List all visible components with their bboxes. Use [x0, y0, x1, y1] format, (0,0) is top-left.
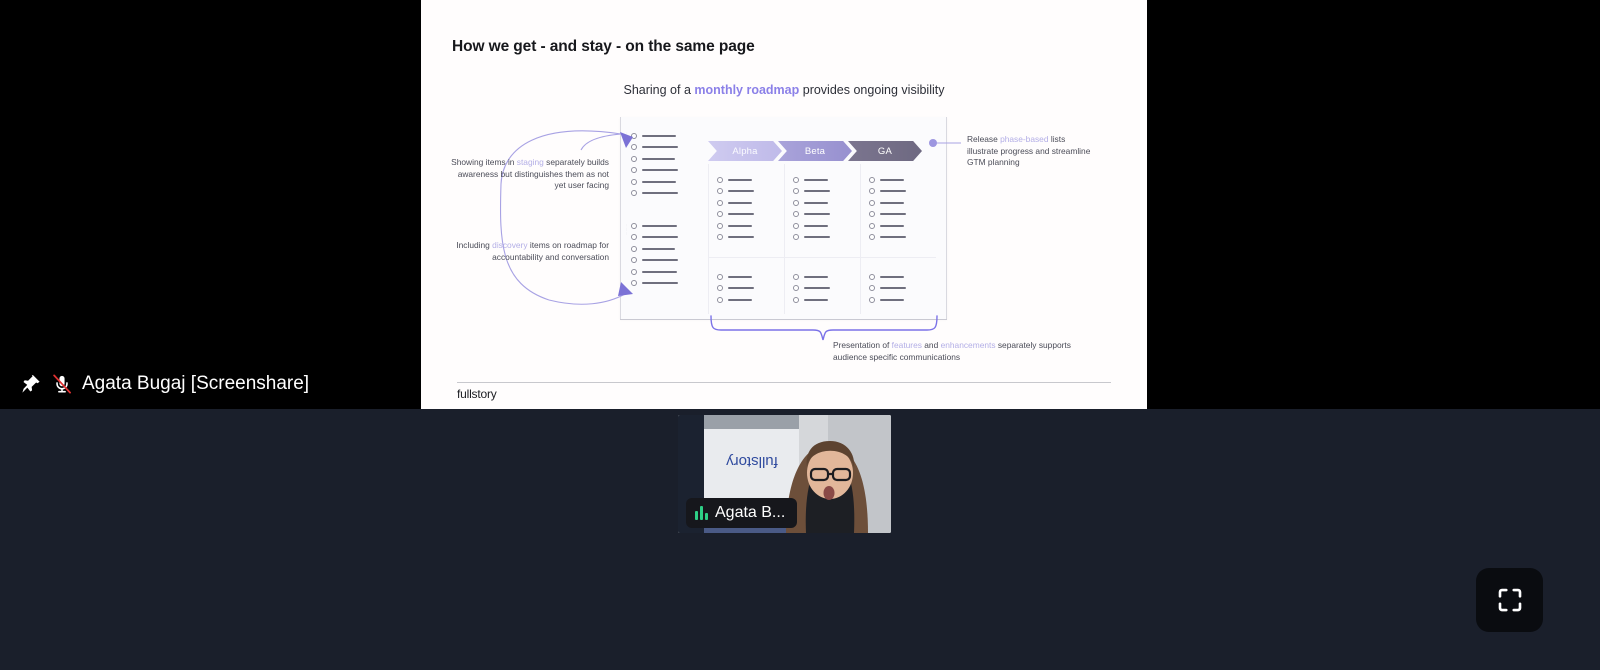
list-bullet-icon [631, 246, 637, 252]
slide-brand-logo: fullstory [457, 387, 497, 401]
list-bullet-icon [793, 274, 799, 280]
list-bar [728, 276, 752, 278]
slide-subtitle: Sharing of a monthly roadmap provides on… [421, 83, 1147, 97]
list-item [717, 174, 779, 186]
list-bar [642, 282, 678, 284]
list-bullet-icon [631, 179, 637, 185]
phase-chevron-beta[interactable]: Beta [778, 141, 852, 161]
pin-icon[interactable] [20, 373, 42, 395]
phase-chevron-ga[interactable]: GA [848, 141, 922, 161]
backlog-column [631, 130, 693, 302]
list-item [717, 186, 779, 198]
screenshare-label: Agata Bugaj [Screenshare] [20, 373, 309, 395]
list-bar [642, 192, 678, 194]
list-bullet-icon [631, 156, 637, 162]
list-bullet-icon [793, 223, 799, 229]
list-bullet-icon [869, 188, 875, 194]
list-item [869, 232, 931, 244]
list-bullet-icon [631, 280, 637, 286]
list-bar [642, 169, 678, 171]
phase-chevron-alpha[interactable]: Alpha [708, 141, 782, 161]
backlog-group-2 [631, 220, 693, 289]
list-item [717, 294, 779, 306]
list-bullet-icon [717, 223, 723, 229]
roadmap-diagram: ········· ········· [421, 104, 1147, 379]
list-bullet-icon [793, 211, 799, 217]
list-item [793, 186, 855, 198]
list-bullet-icon [717, 211, 723, 217]
list-item [793, 294, 855, 306]
list-item [793, 232, 855, 244]
list-bullet-icon [869, 274, 875, 280]
list-bullet-icon [631, 257, 637, 263]
meeting-screen: How we get - and stay - on the same page… [0, 0, 1600, 670]
phase-column-ga [869, 174, 931, 319]
list-bar [880, 213, 906, 215]
list-bar [642, 181, 676, 183]
list-bar [880, 287, 906, 289]
annotation-bottom-highlight-2: enhancements [941, 340, 996, 350]
list-item [717, 197, 779, 209]
list-bar [642, 259, 678, 261]
list-bullet-icon [631, 190, 637, 196]
list-bullet-icon [631, 167, 637, 173]
list-bullet-icon [717, 188, 723, 194]
list-item [717, 271, 779, 283]
list-bullet-icon [717, 177, 723, 183]
shared-slide[interactable]: How we get - and stay - on the same page… [421, 0, 1147, 409]
annotation-left-top: Showing items in staging separately buil… [451, 157, 609, 192]
list-item [869, 271, 931, 283]
list-bullet-icon [631, 269, 637, 275]
list-item [631, 232, 693, 244]
list-bar [642, 236, 678, 238]
list-bar [880, 179, 904, 181]
list-item [631, 278, 693, 290]
list-bullet-icon [869, 177, 875, 183]
phase-group-upper [793, 174, 855, 243]
list-bar [804, 213, 830, 215]
list-bar [728, 213, 754, 215]
annotation-right-highlight: phase-based [1000, 134, 1048, 144]
audio-level-icon [695, 506, 708, 520]
annotation-left-top-before: Showing items in [451, 157, 517, 167]
list-bar [642, 225, 677, 227]
list-bullet-icon [631, 223, 637, 229]
slide-subtitle-highlight: monthly roadmap [694, 83, 799, 97]
list-bar [642, 271, 677, 273]
list-bar [642, 248, 675, 250]
list-item [869, 209, 931, 221]
list-item [793, 197, 855, 209]
slide-subtitle-after: provides ongoing visibility [799, 83, 944, 97]
list-bar [642, 146, 678, 148]
list-bar [728, 202, 752, 204]
list-item [631, 220, 693, 232]
fullscreen-icon [1495, 585, 1525, 615]
list-bullet-icon [717, 297, 723, 303]
list-bullet-icon [793, 188, 799, 194]
list-bullet-icon [869, 223, 875, 229]
phase-group-lower [717, 271, 779, 306]
list-bullet-icon [793, 285, 799, 291]
list-item [869, 220, 931, 232]
list-item [869, 174, 931, 186]
list-bullet-icon [793, 200, 799, 206]
slide-subtitle-before: Sharing of a [624, 83, 695, 97]
list-bar [804, 299, 828, 301]
list-bullet-icon [869, 211, 875, 217]
list-item [631, 266, 693, 278]
list-bullet-icon [717, 274, 723, 280]
list-item [869, 197, 931, 209]
list-bullet-icon [793, 297, 799, 303]
list-item [717, 232, 779, 244]
list-item [631, 243, 693, 255]
screenshare-stage[interactable]: How we get - and stay - on the same page… [0, 0, 1600, 409]
fullscreen-button[interactable] [1476, 568, 1543, 632]
list-item [717, 220, 779, 232]
list-item [631, 165, 693, 177]
list-bullet-icon [717, 200, 723, 206]
list-bar [804, 236, 830, 238]
list-item [631, 255, 693, 267]
backlog-ghost-label-2: ········· [623, 224, 629, 296]
list-bar [804, 225, 828, 227]
list-item [717, 209, 779, 221]
phase-column-beta [793, 174, 855, 319]
list-bar [880, 190, 906, 192]
screenshare-label-text: Agata Bugaj [Screenshare] [82, 373, 309, 395]
phase-column-alpha [717, 174, 779, 319]
list-bar [880, 236, 906, 238]
list-bar [642, 158, 675, 160]
microphone-muted-icon[interactable] [51, 373, 73, 395]
list-item [631, 142, 693, 154]
column-divider [708, 164, 709, 314]
participant-video-tile[interactable]: fullstory Agata B... [678, 415, 891, 533]
list-item [793, 283, 855, 295]
list-bullet-icon [631, 133, 637, 139]
list-bar [880, 299, 904, 301]
list-item [869, 186, 931, 198]
column-divider [860, 164, 861, 314]
annotation-bottom-highlight-1: features [892, 340, 922, 350]
list-item [793, 271, 855, 283]
annotation-right: Release phase-based lists illustrate pro… [967, 134, 1097, 169]
slide-footer-divider [457, 382, 1111, 383]
backlog-ghost-label-1: ········· [623, 132, 629, 204]
participant-name-text: Agata B... [715, 504, 785, 522]
list-bullet-icon [793, 177, 799, 183]
annotation-left-top-highlight: staging [517, 157, 544, 167]
list-bullet-icon [869, 297, 875, 303]
list-item [717, 283, 779, 295]
annotation-left-bottom-before: Including [456, 240, 492, 250]
phase-group-lower [869, 271, 931, 306]
list-item [869, 283, 931, 295]
phase-group-upper [717, 174, 779, 243]
list-bar [728, 225, 752, 227]
participant-name-pill: Agata B... [686, 498, 797, 528]
list-bar [804, 190, 830, 192]
list-bar [728, 236, 754, 238]
list-bullet-icon [793, 234, 799, 240]
list-item [869, 294, 931, 306]
list-bar [804, 202, 828, 204]
phase-group-lower [793, 271, 855, 306]
list-item [631, 176, 693, 188]
list-bar [804, 179, 828, 181]
svg-text:fullstory: fullstory [726, 453, 778, 470]
list-bullet-icon [717, 234, 723, 240]
list-item [631, 153, 693, 165]
list-bullet-icon [631, 234, 637, 240]
list-bar [642, 135, 676, 137]
list-bar [880, 225, 904, 227]
backlog-group-1 [631, 130, 693, 199]
list-bar [728, 190, 754, 192]
slide-title: How we get - and stay - on the same page [452, 38, 755, 56]
phase-group-upper [869, 174, 931, 243]
list-bullet-icon [869, 285, 875, 291]
list-bar [728, 287, 754, 289]
list-bullet-icon [869, 200, 875, 206]
list-item [793, 209, 855, 221]
annotation-left-bottom: Including discovery items on roadmap for… [451, 240, 609, 263]
list-item [631, 188, 693, 200]
board-bottom-edge [620, 319, 947, 320]
list-bar [880, 276, 904, 278]
list-bar [804, 276, 828, 278]
annotation-bottom: Presentation of features and enhancement… [833, 340, 1103, 363]
list-bullet-icon [631, 144, 637, 150]
list-bar [880, 202, 904, 204]
annotation-bottom-middle: and [922, 340, 941, 350]
list-bullet-icon [869, 234, 875, 240]
list-item [793, 174, 855, 186]
list-item [631, 130, 693, 142]
column-divider [784, 164, 785, 314]
list-bar [728, 299, 752, 301]
list-bullet-icon [717, 285, 723, 291]
list-item [793, 220, 855, 232]
annotation-right-before: Release [967, 134, 1000, 144]
list-bar [804, 287, 830, 289]
annotation-left-bottom-highlight: discovery [492, 240, 527, 250]
list-bar [728, 179, 752, 181]
annotation-bottom-before: Presentation of [833, 340, 892, 350]
